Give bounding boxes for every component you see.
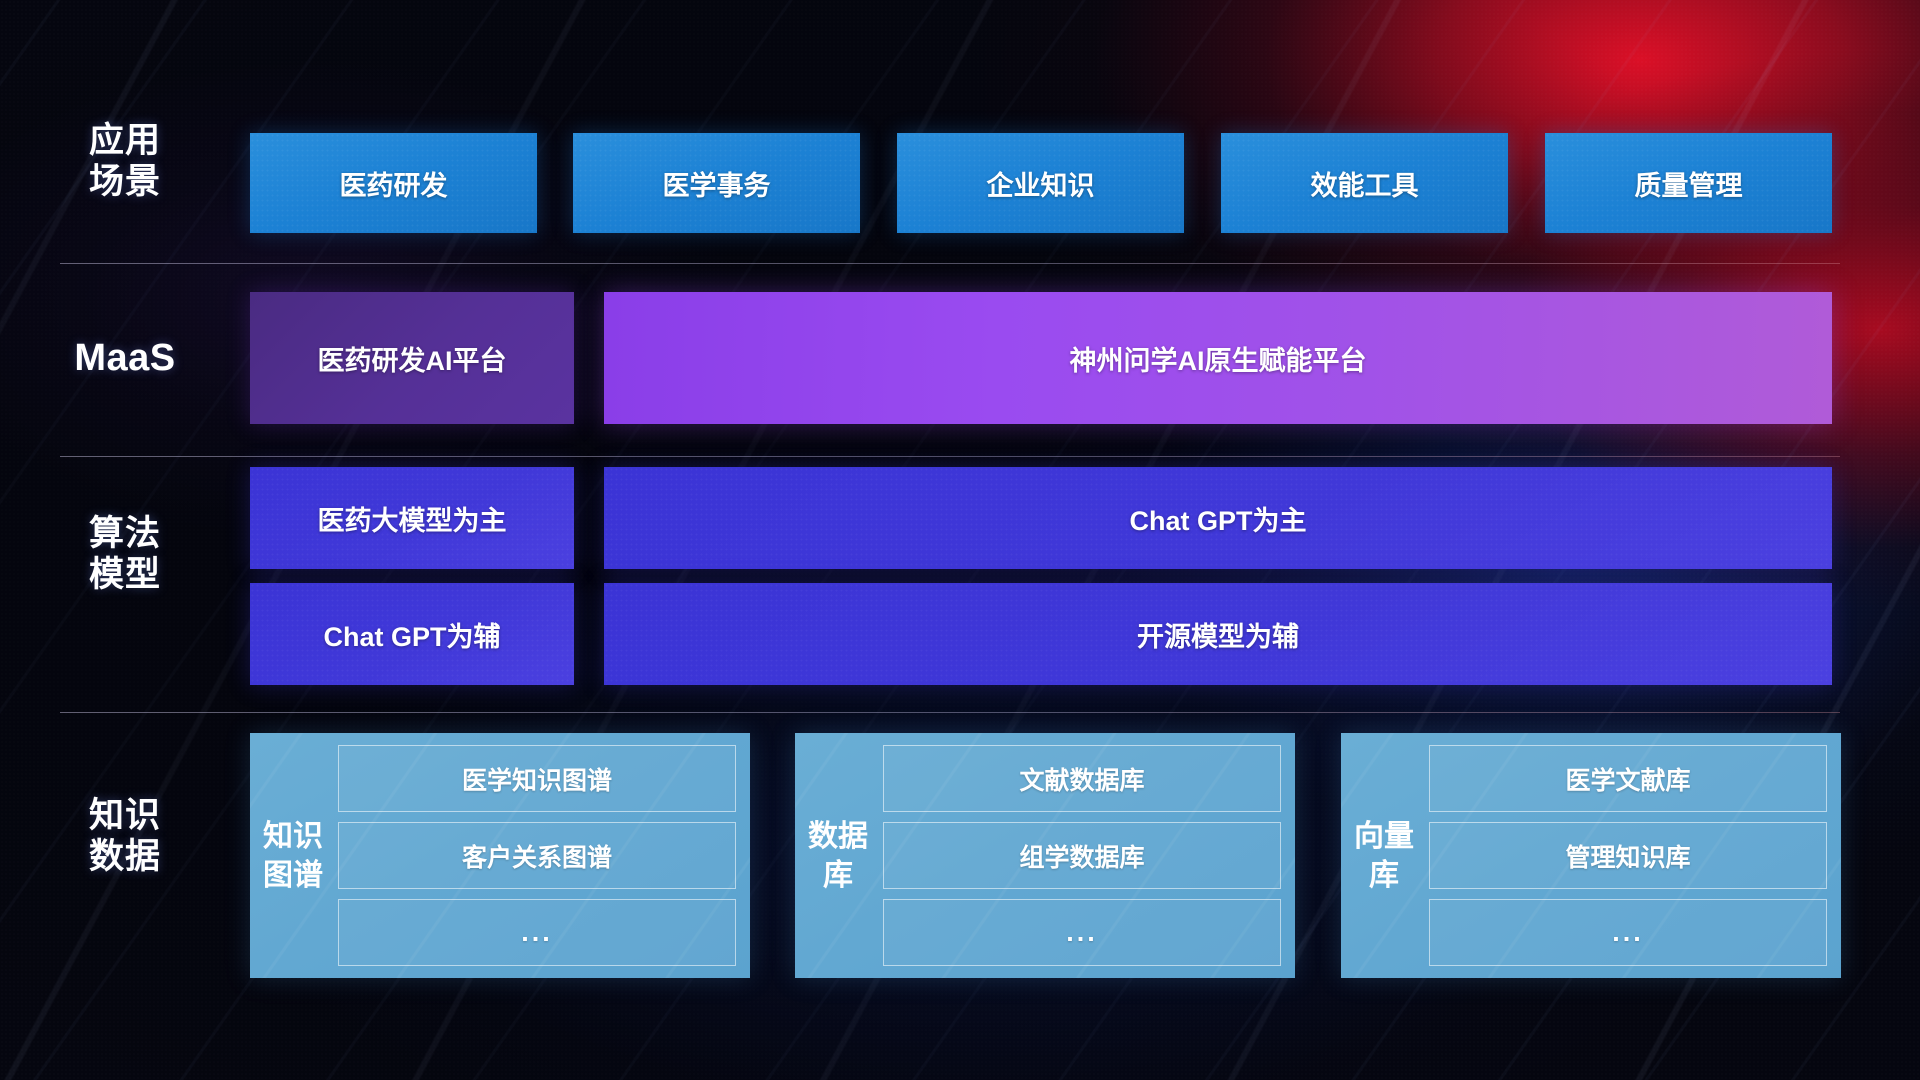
knowledge-card-1-title: 知识图谱	[262, 745, 324, 966]
maas-box-pharma-ai-platform-label: 医药研发AI平台	[318, 339, 507, 378]
row-separator-2	[60, 456, 1840, 457]
row-label-maas: MaaS	[60, 336, 190, 381]
knowledge-card-3-title: 向量库	[1353, 745, 1415, 966]
row-label-line-2: 场景	[60, 161, 190, 202]
knowledge-card-3-item-2[interactable]: 管理知识库	[1429, 822, 1827, 889]
knowledge-card-2-item-2[interactable]: 组学数据库	[883, 822, 1281, 889]
knowledge-card-1-item-2[interactable]: 客户关系图谱	[338, 822, 736, 889]
algo-box-opensource-secondary-label: 开源模型为辅	[1137, 615, 1299, 654]
app-box-1-label: 医药研发	[340, 164, 448, 203]
knowledge-card-1-items: 医学知识图谱 客户关系图谱 ...	[338, 745, 736, 966]
algo-box-chatgpt-secondary-label: Chat GPT为辅	[323, 615, 500, 654]
knowledge-card-knowledge-graph[interactable]: 知识图谱 医学知识图谱 客户关系图谱 ...	[250, 733, 750, 978]
knowledge-card-1-item-3[interactable]: ...	[338, 899, 736, 966]
row-label-algo-line-1: 算法	[60, 513, 190, 554]
algo-box-pharma-llm-primary-label: 医药大模型为主	[318, 499, 507, 538]
algo-box-opensource-secondary[interactable]: 开源模型为辅	[604, 583, 1832, 685]
knowledge-card-2-items: 文献数据库 组学数据库 ...	[883, 745, 1281, 966]
app-box-4[interactable]: 效能工具	[1221, 133, 1508, 233]
row-separator-3	[60, 712, 1840, 713]
row-label-application-scenarios: 应用 场景	[60, 120, 190, 203]
knowledge-card-2-title: 数据库	[807, 745, 869, 966]
knowledge-card-vector-store[interactable]: 向量库 医学文献库 管理知识库 ...	[1341, 733, 1841, 978]
app-box-5[interactable]: 质量管理	[1545, 133, 1832, 233]
app-box-4-label: 效能工具	[1311, 164, 1419, 203]
algo-box-chatgpt-primary[interactable]: Chat GPT为主	[604, 467, 1832, 569]
row-separator-1	[60, 263, 1840, 264]
algo-box-pharma-llm-primary[interactable]: 医药大模型为主	[250, 467, 574, 569]
maas-box-shenzhou-platform[interactable]: 神州问学AI原生赋能平台	[604, 292, 1832, 424]
row-label-knowledge-data: 知识 数据	[60, 795, 190, 878]
knowledge-card-2-item-3[interactable]: ...	[883, 899, 1281, 966]
app-box-3-label: 企业知识	[987, 164, 1095, 203]
algo-box-chatgpt-primary-label: Chat GPT为主	[1129, 499, 1306, 538]
maas-box-pharma-ai-platform[interactable]: 医药研发AI平台	[250, 292, 574, 424]
maas-box-shenzhou-platform-label: 神州问学AI原生赋能平台	[1070, 339, 1367, 378]
algo-box-chatgpt-secondary[interactable]: Chat GPT为辅	[250, 583, 574, 685]
app-box-1[interactable]: 医药研发	[250, 133, 537, 233]
app-box-5-label: 质量管理	[1635, 164, 1743, 203]
row-label-knowledge-line-2: 数据	[60, 836, 190, 877]
app-box-2[interactable]: 医学事务	[573, 133, 860, 233]
knowledge-card-3-items: 医学文献库 管理知识库 ...	[1429, 745, 1827, 966]
row-label-algo-line-2: 模型	[60, 554, 190, 595]
knowledge-card-3-item-1[interactable]: 医学文献库	[1429, 745, 1827, 812]
app-box-3[interactable]: 企业知识	[897, 133, 1184, 233]
knowledge-card-database[interactable]: 数据库 文献数据库 组学数据库 ...	[795, 733, 1295, 978]
diagram-canvas: 应用 场景 医药研发 医学事务 企业知识 效能工具 质量管理 MaaS 医药研发…	[0, 0, 1920, 1080]
row-label-algorithm-model: 算法 模型	[60, 513, 190, 596]
knowledge-card-2-item-1[interactable]: 文献数据库	[883, 745, 1281, 812]
row-label-line-1: 应用	[60, 120, 190, 161]
app-box-2-label: 医学事务	[663, 164, 771, 203]
row-label-knowledge-line-1: 知识	[60, 795, 190, 836]
row-label-maas-text: MaaS	[60, 336, 190, 381]
knowledge-card-3-item-3[interactable]: ...	[1429, 899, 1827, 966]
knowledge-card-1-item-1[interactable]: 医学知识图谱	[338, 745, 736, 812]
